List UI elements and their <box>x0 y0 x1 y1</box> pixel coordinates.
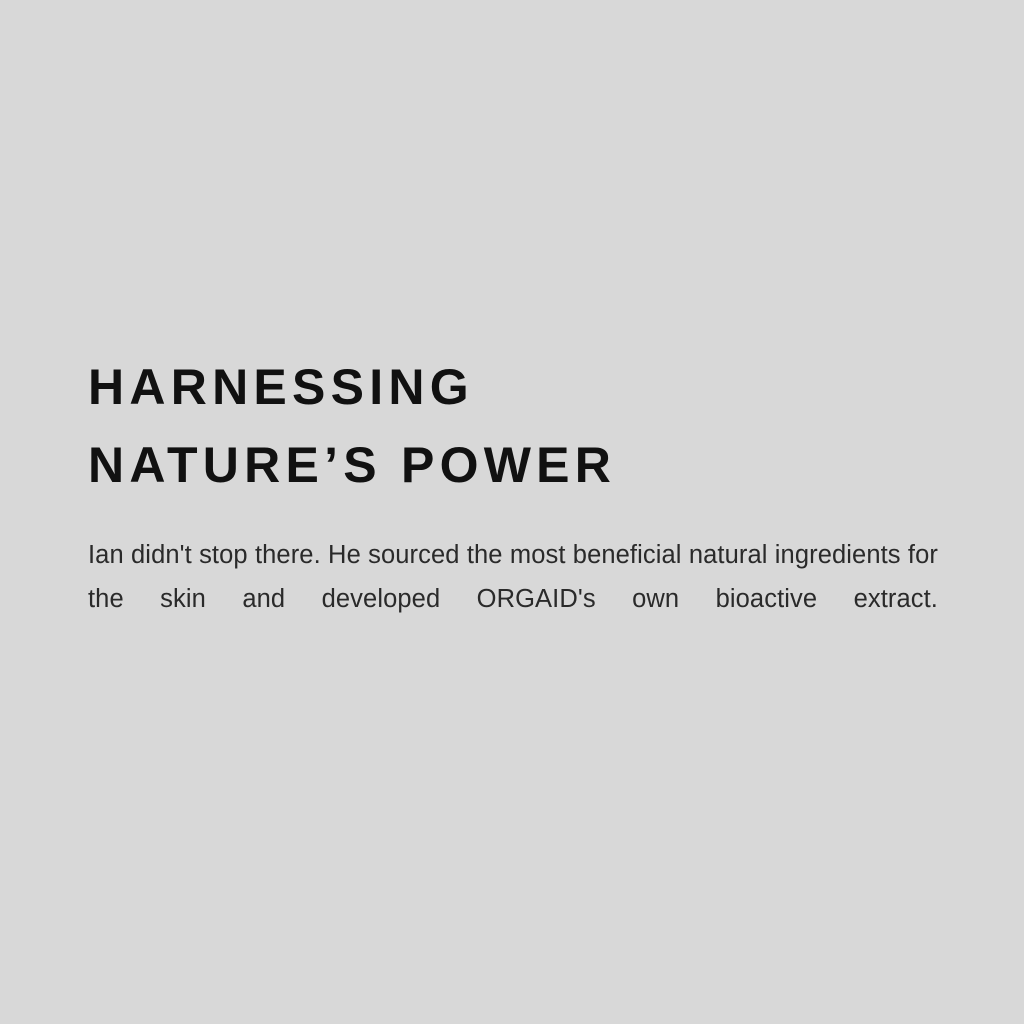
page-title-line-2: NATURE’S POWER <box>88 426 938 504</box>
page-title: HARNESSING NATURE’S POWER <box>88 348 938 504</box>
body-paragraph: Ian didn't stop there. He sourced the mo… <box>88 504 938 665</box>
page-title-line-1: HARNESSING <box>88 348 938 426</box>
slide-canvas: HARNESSING NATURE’S POWER Ian didn't sto… <box>0 0 1024 1024</box>
text-content-block: HARNESSING NATURE’S POWER Ian didn't sto… <box>88 348 938 665</box>
